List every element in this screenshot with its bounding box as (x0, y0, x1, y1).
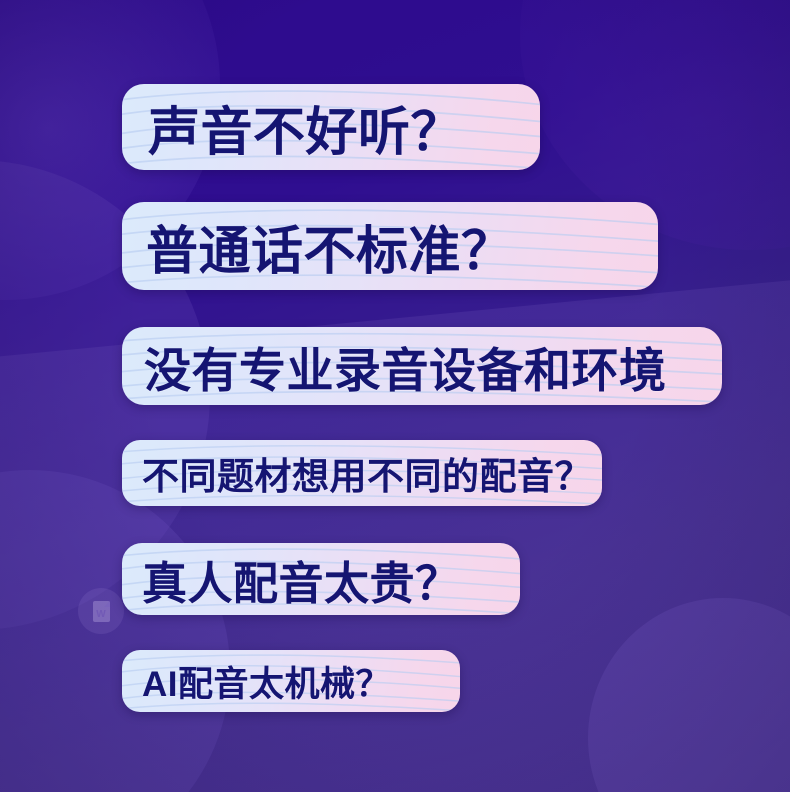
poster-canvas: W 声音不好听？ (0, 0, 790, 792)
banner-label-6: AI配音太机械？ (142, 656, 391, 707)
banner-row-4: 不同题材想用不同的配音？ (122, 440, 602, 506)
banner-label-3: 没有专业录音设备和环境 (144, 332, 667, 401)
banner-row-1: 声音不好听？ (122, 84, 540, 170)
banner-row-6: AI配音太机械？ (122, 650, 460, 712)
banner-row-5: 真人配音太贵？ (122, 543, 520, 615)
banner-list: 声音不好听？ 普通话不标准？ (0, 0, 790, 792)
banner-label-1: 声音不好听？ (148, 90, 463, 165)
banner-label-2: 普通话不标准？ (146, 209, 514, 284)
banner-row-2: 普通话不标准？ (122, 202, 658, 290)
banner-row-3: 没有专业录音设备和环境 (122, 327, 722, 405)
banner-label-4: 不同题材想用不同的配音？ (142, 446, 592, 500)
banner-label-5: 真人配音太贵？ (142, 547, 461, 612)
